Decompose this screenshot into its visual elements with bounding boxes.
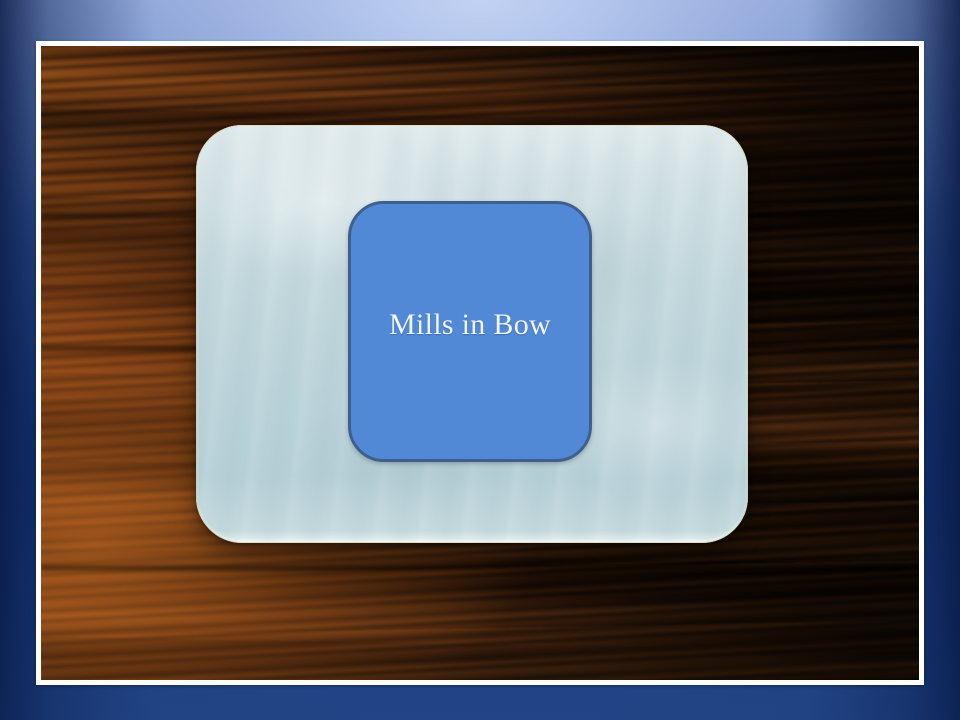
smartart-node-mills-in-bow[interactable]: Mills in Bow — [348, 201, 592, 462]
smartart-node-label: Mills in Bow — [389, 308, 551, 343]
wood-seam-line-lower — [41, 566, 919, 570]
slide-canvas: Mills in Bow — [0, 0, 960, 720]
